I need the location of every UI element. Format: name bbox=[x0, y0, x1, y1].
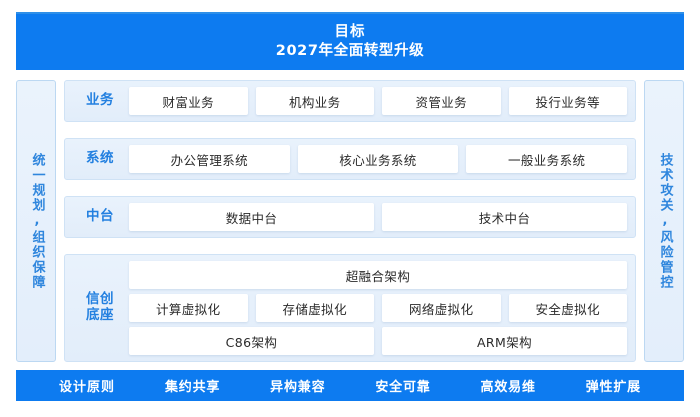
goal-banner: 目标 2027年全面转型升级 bbox=[16, 12, 684, 70]
midend-card[interactable]: 数据中台 bbox=[129, 203, 374, 231]
middle-band: 统一规划,组织保障 业务 财富业务 机构业务 资管业务 投行业务等 系统 办公管… bbox=[16, 80, 684, 362]
base-card-virtualization[interactable]: 网络虚拟化 bbox=[382, 294, 501, 322]
right-pillar-label: 技术攻关,风险管控 bbox=[657, 153, 672, 290]
base-card-virtualization[interactable]: 安全虚拟化 bbox=[509, 294, 628, 322]
right-pillar: 技术攻关,风险管控 bbox=[644, 80, 684, 362]
system-card-list: 办公管理系统 核心业务系统 一般业务系统 bbox=[129, 145, 627, 173]
system-card[interactable]: 办公管理系统 bbox=[129, 145, 290, 173]
left-pillar-label: 统一规划,组织保障 bbox=[29, 153, 44, 290]
midend-card[interactable]: 技术中台 bbox=[382, 203, 627, 231]
base-stack: 超融合架构 计算虚拟化 存储虚拟化 网络虚拟化 安全虚拟化 C86架构 ARM架… bbox=[129, 261, 627, 355]
base-row-bottom: C86架构 ARM架构 bbox=[129, 327, 627, 355]
layer-row-midend: 中台 数据中台 技术中台 bbox=[64, 196, 636, 238]
principle-item[interactable]: 弹性扩展 bbox=[586, 376, 641, 395]
principles-heading: 设计原则 bbox=[59, 376, 115, 395]
business-card[interactable]: 财富业务 bbox=[129, 87, 248, 115]
layer-row-business: 业务 财富业务 机构业务 资管业务 投行业务等 bbox=[64, 80, 636, 122]
base-row-middle: 计算虚拟化 存储虚拟化 网络虚拟化 安全虚拟化 bbox=[129, 294, 627, 322]
base-card-virtualization[interactable]: 计算虚拟化 bbox=[129, 294, 248, 322]
base-row-top: 超融合架构 bbox=[129, 261, 627, 289]
layer-label-base-line1: 信创 bbox=[71, 292, 129, 308]
principle-item[interactable]: 安全可靠 bbox=[375, 376, 430, 395]
business-card-list: 财富业务 机构业务 资管业务 投行业务等 bbox=[129, 87, 627, 115]
layer-label-system: 系统 bbox=[71, 151, 129, 167]
business-card[interactable]: 资管业务 bbox=[382, 87, 501, 115]
goal-title: 目标 bbox=[335, 24, 366, 41]
base-card-hyperconverged[interactable]: 超融合架构 bbox=[129, 261, 627, 289]
business-card[interactable]: 机构业务 bbox=[256, 87, 375, 115]
architecture-diagram: 目标 2027年全面转型升级 统一规划,组织保障 业务 财富业务 机构业务 资管… bbox=[0, 0, 700, 417]
base-card-architecture[interactable]: C86架构 bbox=[129, 327, 374, 355]
principle-item[interactable]: 集约共享 bbox=[165, 376, 220, 395]
principle-item[interactable]: 高效易维 bbox=[481, 376, 536, 395]
layer-row-base: 信创 底座 超融合架构 计算虚拟化 存储虚拟化 网络虚拟化 安全虚拟化 C86架… bbox=[64, 254, 636, 362]
goal-subtitle: 2027年全面转型升级 bbox=[276, 43, 424, 60]
layer-label-base: 信创 底座 bbox=[71, 292, 129, 323]
left-pillar: 统一规划,组织保障 bbox=[16, 80, 56, 362]
layer-label-midend: 中台 bbox=[71, 209, 129, 225]
principles-bar: 设计原则 集约共享 异构兼容 安全可靠 高效易维 弹性扩展 bbox=[16, 370, 684, 401]
system-card[interactable]: 核心业务系统 bbox=[298, 145, 459, 173]
midend-card-list: 数据中台 技术中台 bbox=[129, 203, 627, 231]
layer-label-business: 业务 bbox=[71, 93, 129, 109]
system-card[interactable]: 一般业务系统 bbox=[466, 145, 627, 173]
business-card[interactable]: 投行业务等 bbox=[509, 87, 628, 115]
layer-label-base-line2: 底座 bbox=[71, 308, 129, 324]
base-card-architecture[interactable]: ARM架构 bbox=[382, 327, 627, 355]
principle-item[interactable]: 异构兼容 bbox=[270, 376, 325, 395]
layer-row-system: 系统 办公管理系统 核心业务系统 一般业务系统 bbox=[64, 138, 636, 180]
layers-column: 业务 财富业务 机构业务 资管业务 投行业务等 系统 办公管理系统 核心业务系统… bbox=[64, 80, 636, 362]
base-card-virtualization[interactable]: 存储虚拟化 bbox=[256, 294, 375, 322]
